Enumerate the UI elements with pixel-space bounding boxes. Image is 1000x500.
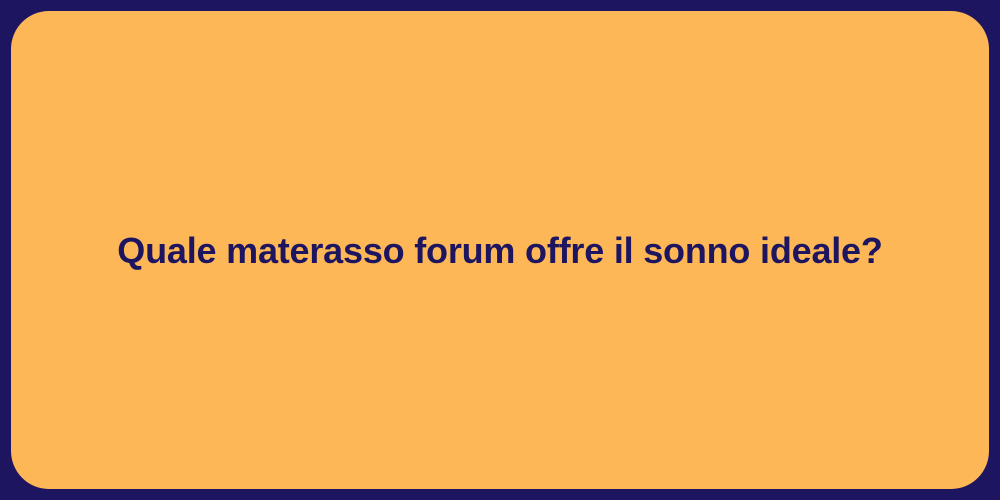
page-title: Quale materasso forum offre il sonno ide… [77,228,922,273]
content-card: Quale materasso forum offre il sonno ide… [11,11,989,489]
page-frame: Quale materasso forum offre il sonno ide… [0,0,1000,500]
